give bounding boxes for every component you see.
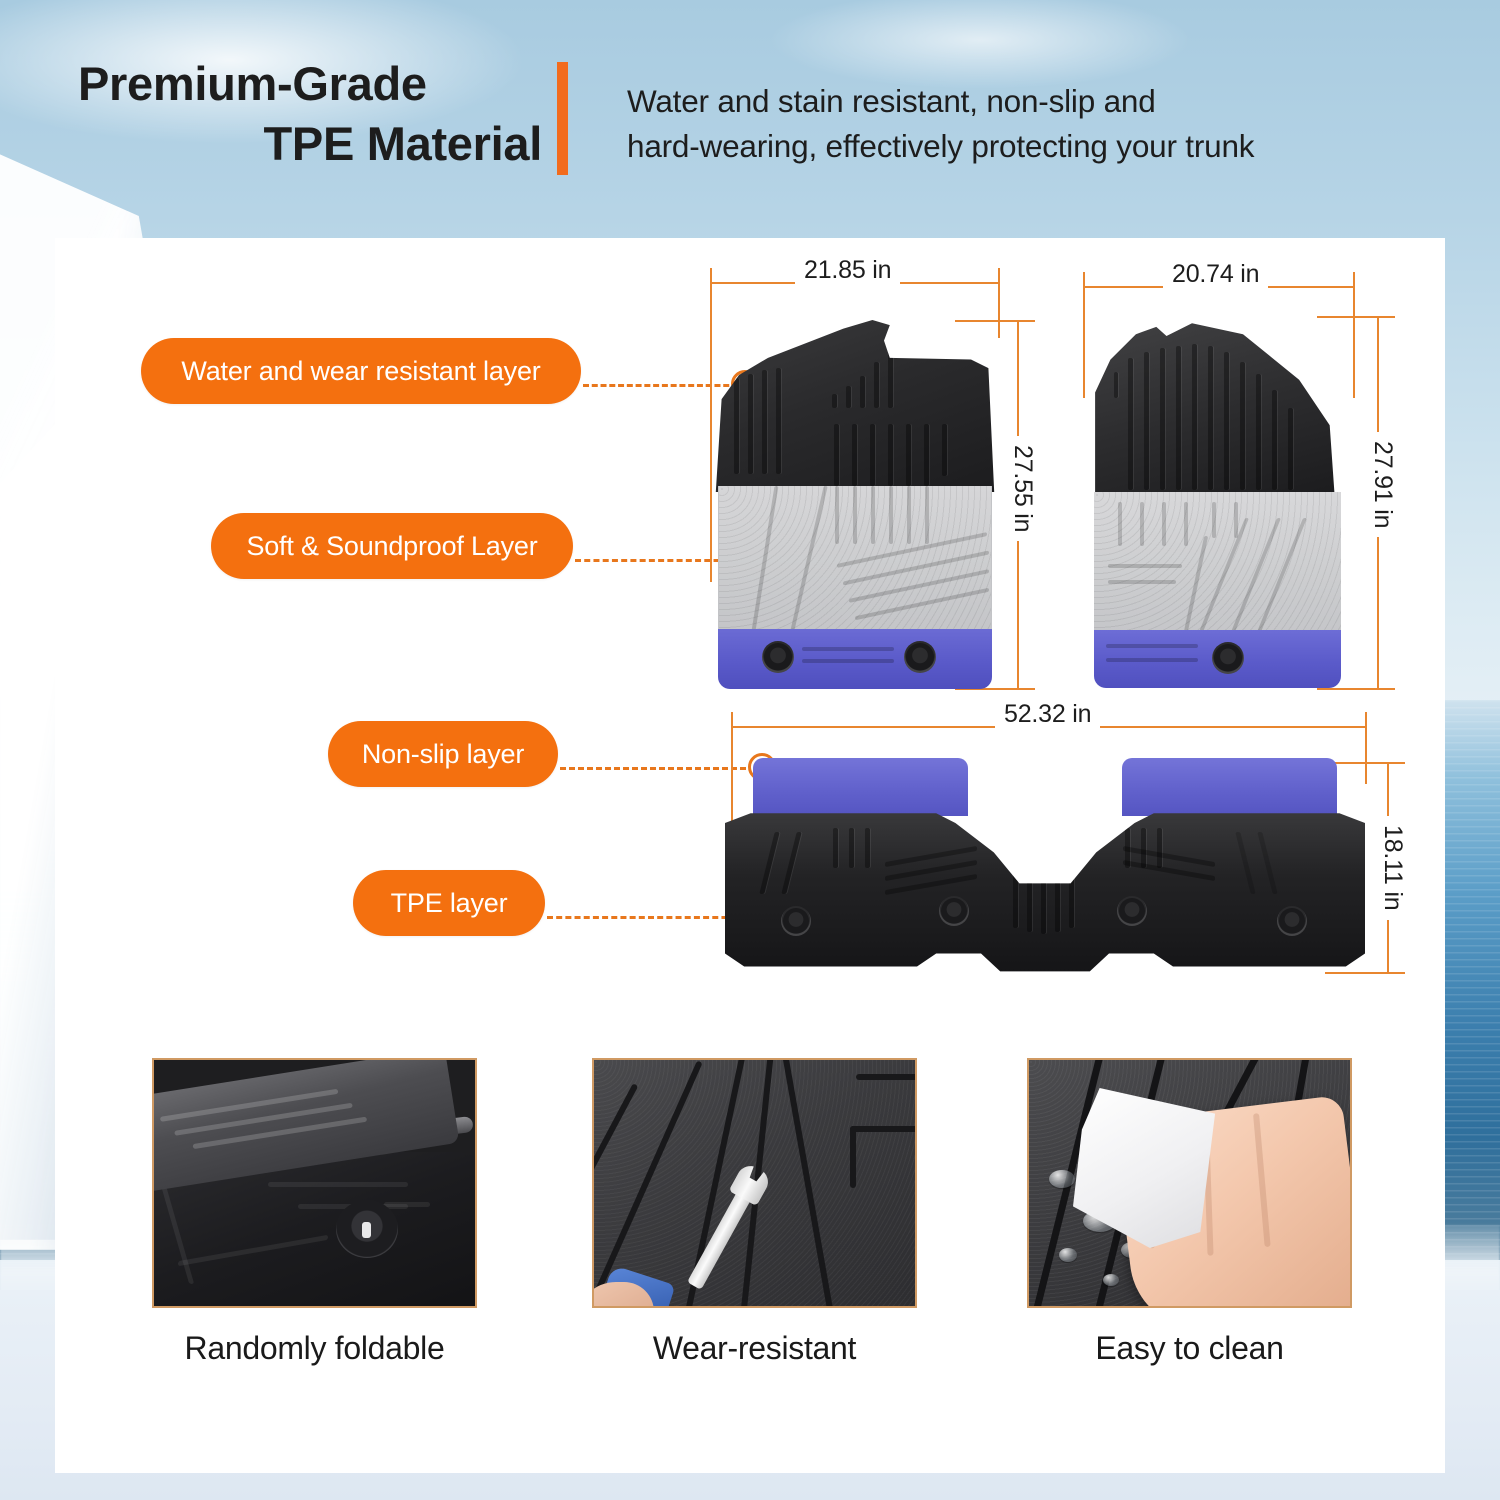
- feature-cards: Randomly foldable Wear-resistant: [55, 1058, 1445, 1438]
- callout-water-wear-resistant-layer[interactable]: Water and wear resistant layer: [141, 338, 581, 404]
- callout-non-slip-layer[interactable]: Non-slip layer: [328, 721, 558, 787]
- feature-card-randomly-foldable: Randomly foldable: [152, 1058, 477, 1367]
- feature-caption: Randomly foldable: [152, 1330, 477, 1367]
- content-panel: Water and wear resistant layer Soft & So…: [55, 238, 1445, 1473]
- page-title: Premium-Grade TPE Material: [78, 54, 548, 174]
- mat-grommet: [1277, 906, 1307, 936]
- mat-grommet: [762, 641, 794, 673]
- mat-black-layer: [725, 810, 1365, 973]
- dim-label-front-left-height: 27.55 in: [1008, 436, 1037, 541]
- callout-label: Non-slip layer: [362, 739, 524, 770]
- mat-gray-layer: [718, 486, 992, 631]
- header: Premium-Grade TPE Material Water and sta…: [0, 0, 1500, 238]
- folded-mat-photo: [152, 1058, 477, 1308]
- feature-caption: Easy to clean: [1027, 1330, 1352, 1367]
- dim-extension: [1353, 286, 1355, 398]
- dim-label-front-left-width: 21.85 in: [795, 256, 900, 285]
- callout-label: Soft & Soundproof Layer: [246, 531, 537, 562]
- mat-grommet: [904, 641, 936, 673]
- rear-mat-blue-left: [753, 758, 968, 816]
- front-right-floor-mat: [1090, 316, 1345, 690]
- title-line-2: TPE Material: [78, 114, 548, 174]
- feature-card-wear-resistant: Wear-resistant: [592, 1058, 917, 1367]
- callout-label: Water and wear resistant layer: [181, 356, 540, 387]
- mat-black-layer: [710, 320, 1000, 492]
- subtitle-line-2: hard-wearing, effectively protecting you…: [627, 124, 1427, 169]
- dim-extension: [1083, 286, 1085, 398]
- feature-card-easy-to-clean: Easy to clean: [1027, 1058, 1352, 1367]
- mat-gray-layer: [1094, 492, 1341, 632]
- callout-soft-soundproof-layer[interactable]: Soft & Soundproof Layer: [211, 513, 573, 579]
- dim-label-rear-height: 18.11 in: [1378, 816, 1407, 920]
- feature-caption: Wear-resistant: [592, 1330, 917, 1367]
- callout-tpe-layer[interactable]: TPE layer: [353, 870, 545, 936]
- mat-grommet: [1212, 642, 1244, 674]
- mat-grommet: [939, 896, 969, 926]
- mat-blue-layer: [1094, 630, 1341, 688]
- rear-floor-mat: [725, 758, 1365, 973]
- title-line-1: Premium-Grade: [78, 57, 427, 110]
- mat-grommet: [781, 906, 811, 936]
- dim-label-front-right-height: 27.91 in: [1368, 432, 1397, 537]
- dim-label-front-right-width: 20.74 in: [1163, 260, 1268, 289]
- mat-blue-layer: [753, 758, 1337, 816]
- dim-extension: [1365, 726, 1367, 784]
- rear-mat-blue-right: [1122, 758, 1337, 816]
- subtitle-line-1: Water and stain resistant, non-slip and: [627, 79, 1427, 124]
- subtitle: Water and stain resistant, non-slip and …: [627, 79, 1427, 168]
- callout-label: TPE layer: [391, 888, 508, 919]
- mat-black-layer: [1090, 316, 1345, 498]
- mat-blue-layer: [718, 629, 992, 689]
- mat-grommet: [336, 1200, 398, 1258]
- leader-line-tpe: [547, 916, 755, 919]
- wipe-water-photo: [1027, 1058, 1352, 1308]
- title-divider-rule: [557, 62, 568, 175]
- front-left-floor-mat: [710, 320, 1000, 690]
- mat-grommet: [1117, 896, 1147, 926]
- wrench-scratch-photo: [592, 1058, 917, 1308]
- dim-label-rear-width: 52.32 in: [995, 700, 1100, 729]
